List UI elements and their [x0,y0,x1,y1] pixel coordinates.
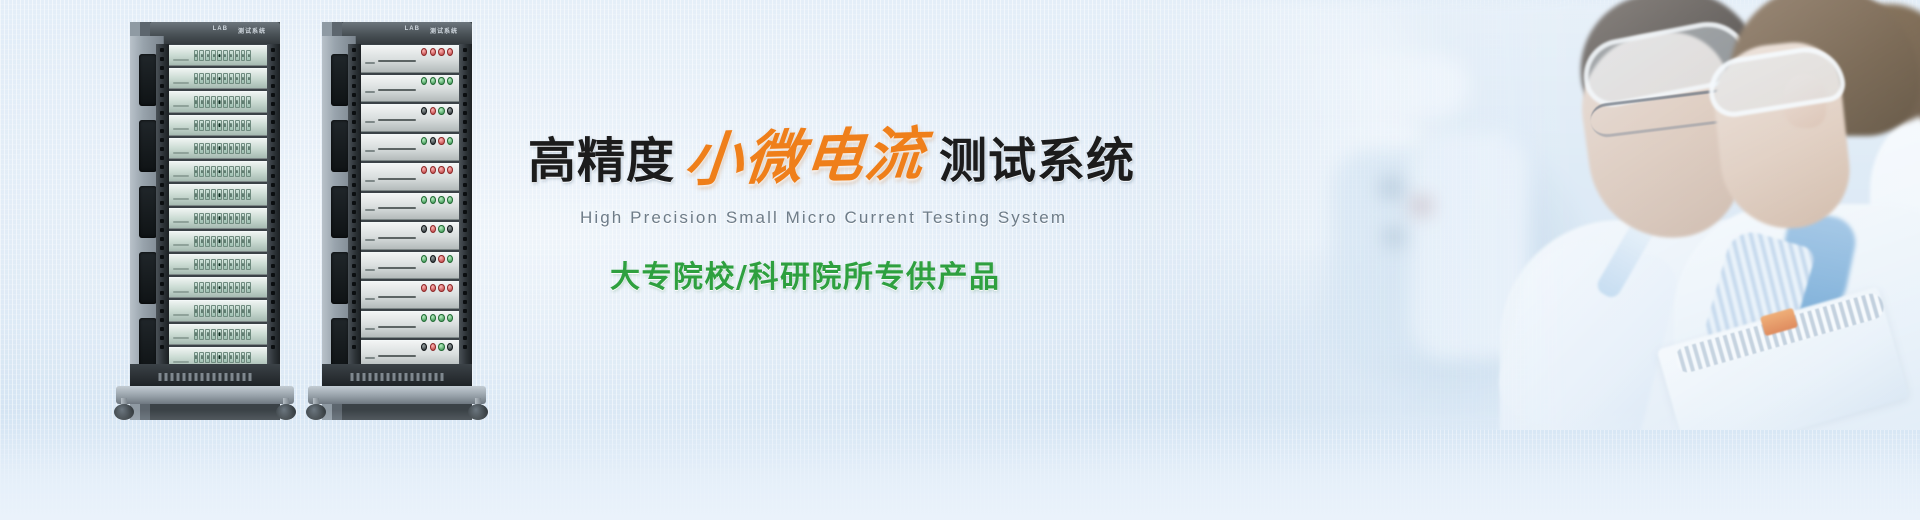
channel-port[interactable] [199,50,204,61]
rack-module[interactable] [169,115,267,136]
module-display [173,128,189,130]
rack-rail-hole [271,93,275,97]
channel-port[interactable] [235,73,240,84]
instrument-side-display [365,209,375,211]
rack-rail-left [156,44,169,368]
rack-rail-hole [352,219,356,223]
instrument-terminal[interactable] [447,255,453,263]
rack-rail-hole [160,228,164,232]
instrument-terminal[interactable] [447,284,453,292]
rack-rail-hole [352,156,356,160]
channel-port[interactable] [241,305,246,316]
channel-port[interactable] [205,189,210,200]
rack-rail-hole [160,237,164,241]
channel-port[interactable] [217,50,222,61]
module-display [173,291,189,293]
instrument-terminal[interactable] [421,225,427,233]
channel-port[interactable] [246,236,251,247]
rack-rail-hole [160,273,164,277]
rack-rail-hole [352,210,356,214]
channel-port[interactable] [223,96,228,107]
instrument-terminal[interactable] [430,255,436,263]
rack-module[interactable] [169,324,267,345]
channel-port[interactable] [223,236,228,247]
rack-rail-hole [271,228,275,232]
channel-port[interactable] [229,213,234,224]
channel-port[interactable] [217,352,222,363]
channel-port[interactable] [246,329,251,340]
channel-port[interactable] [223,50,228,61]
channel-port[interactable] [223,329,228,340]
instrument-terminal[interactable] [430,225,436,233]
rack-rail-hole [463,111,467,115]
headline: 高精度 小微电流 测试系统 [528,128,1128,186]
rack-post-slot [331,318,349,370]
channel-port[interactable] [246,143,251,154]
channel-port[interactable] [223,189,228,200]
channel-port[interactable] [199,143,204,154]
rack-module[interactable] [169,208,267,229]
channel-port[interactable] [211,96,216,107]
rack-module[interactable] [169,91,267,112]
rack-rail-hole [271,336,275,340]
channel-port[interactable] [241,329,246,340]
instrument-terminal[interactable] [421,255,427,263]
instrument-side-display [365,357,375,359]
instrument-module[interactable] [361,104,459,132]
channel-port[interactable] [217,305,222,316]
channel-port[interactable] [194,189,199,200]
channel-port[interactable] [211,189,216,200]
channel-port[interactable] [246,305,251,316]
rack-rail-hole [463,84,467,88]
channel-port[interactable] [217,236,222,247]
channel-port[interactable] [246,120,251,131]
instrument-main-display [378,326,417,328]
instrument-module[interactable] [361,281,459,309]
rack-rail-hole [160,84,164,88]
channel-port[interactable] [235,329,240,340]
instrument-module[interactable] [361,163,459,191]
rack-rail-hole [271,75,275,79]
instrument-main-display [378,119,417,121]
channel-port[interactable] [229,305,234,316]
channel-port[interactable] [194,213,199,224]
channel-port[interactable] [217,73,222,84]
channel-port[interactable] [194,73,199,84]
instrument-terminal[interactable] [447,225,453,233]
rack-rail-hole [271,57,275,61]
channel-port[interactable] [194,120,199,131]
instrument-terminal[interactable] [447,196,453,204]
channel-port[interactable] [241,213,246,224]
instrument-terminal-row [419,282,459,308]
instrument-terminal[interactable] [447,77,453,85]
channel-port[interactable] [246,166,251,177]
channel-port[interactable] [229,259,234,270]
rack-rail-hole [352,66,356,70]
channel-port[interactable] [217,120,222,131]
rack-rail-hole [160,336,164,340]
instrument-terminal[interactable] [447,137,453,145]
rack-top-panel: LAB 测试系统 [150,22,280,44]
channel-port[interactable] [241,166,246,177]
channel-port[interactable] [229,329,234,340]
rack-rail-hole [271,192,275,196]
instrument-terminal[interactable] [430,107,436,115]
instrument-terminal[interactable] [430,166,436,174]
rack-rail-hole [271,48,275,52]
instrument-terminal[interactable] [421,166,427,174]
channel-port[interactable] [211,120,216,131]
rack-module[interactable] [169,300,267,321]
rack-top-panel: LAB 测试系统 [342,22,472,44]
channel-port[interactable] [199,189,204,200]
rack-module[interactable] [169,184,267,205]
instrument-terminal[interactable] [430,284,436,292]
channel-port[interactable] [246,73,251,84]
channel-port[interactable] [229,352,234,363]
channel-port[interactable] [217,143,222,154]
rack-rail-hole [352,255,356,259]
channel-port[interactable] [246,50,251,61]
channel-port[interactable] [205,329,210,340]
channel-port[interactable] [211,50,216,61]
channel-port[interactable] [194,329,199,340]
channel-port[interactable] [229,236,234,247]
channel-port[interactable] [241,282,246,293]
channel-port[interactable] [199,329,204,340]
channel-port[interactable] [223,352,228,363]
rack-rail-hole [160,300,164,304]
rack-cart-platform [308,386,486,404]
channel-port[interactable] [194,236,199,247]
instrument-module[interactable] [361,193,459,221]
channel-port[interactable] [211,305,216,316]
channel-port[interactable] [235,96,240,107]
channel-port[interactable] [211,236,216,247]
instrument-terminal[interactable] [430,343,436,351]
rack-rail-right [459,44,472,368]
channel-port[interactable] [223,259,228,270]
channel-port[interactable] [246,189,251,200]
rack-module[interactable] [169,68,267,89]
hero-banner: LAB 测试系统 LAB 测试系统 [0,0,1920,520]
instrument-terminal[interactable] [438,196,444,204]
channel-port[interactable] [241,236,246,247]
channel-port[interactable] [235,305,240,316]
channel-port[interactable] [223,166,228,177]
instrument-module[interactable] [361,252,459,280]
instrument-module[interactable] [361,222,459,250]
channel-port[interactable] [246,259,251,270]
instrument-terminal[interactable] [438,284,444,292]
rack-module[interactable] [169,161,267,182]
channel-port[interactable] [199,96,204,107]
channel-port[interactable] [241,50,246,61]
instrument-terminal[interactable] [438,314,444,322]
caster-tire [468,404,488,420]
channel-port[interactable] [217,329,222,340]
channel-port[interactable] [241,143,246,154]
channel-port[interactable] [241,259,246,270]
channel-port[interactable] [194,282,199,293]
channel-port[interactable] [223,120,228,131]
channel-port[interactable] [229,282,234,293]
channel-port[interactable] [199,73,204,84]
channel-port[interactable] [223,73,228,84]
instrument-module[interactable] [361,311,459,339]
instrument-terminal[interactable] [421,284,427,292]
instrument-terminal[interactable] [430,77,436,85]
rack-rail-hole [463,66,467,70]
channel-port[interactable] [235,166,240,177]
channel-port[interactable] [194,143,199,154]
rack-base-label [351,373,444,381]
instrument-terminal[interactable] [438,343,444,351]
rack-module[interactable] [169,277,267,298]
rack-rail-hole [271,345,275,349]
channel-port[interactable] [229,50,234,61]
channel-port[interactable] [229,96,234,107]
rack-rail-hole [160,174,164,178]
channel-port[interactable] [235,236,240,247]
channel-port[interactable] [246,282,251,293]
rack-cart-platform [116,386,294,404]
instrument-terminal[interactable] [421,48,427,56]
rack-module[interactable] [169,45,267,66]
channel-port[interactable] [229,166,234,177]
channel-port[interactable] [205,213,210,224]
module-display [173,221,189,223]
channel-port[interactable] [229,143,234,154]
channel-port[interactable] [205,352,210,363]
rack-rail-hole [271,66,275,70]
rack-rail-hole [352,48,356,52]
channel-port[interactable] [235,352,240,363]
rack-rail-hole [463,57,467,61]
rack-module[interactable] [169,138,267,159]
rack-brand-label: LAB 测试系统 [213,26,266,35]
channel-port[interactable] [217,166,222,177]
rack-rail-hole [352,165,356,169]
channel-port[interactable] [199,120,204,131]
rack-rail-hole [463,255,467,259]
rack-rail-hole [271,246,275,250]
channel-port[interactable] [223,143,228,154]
instrument-terminal[interactable] [438,48,444,56]
rack-rail-hole [463,165,467,169]
channel-port[interactable] [194,352,199,363]
instrument-terminal-row [419,46,459,72]
instrument-side-display [365,150,375,152]
module-channel-row [191,46,255,65]
channel-port[interactable] [229,120,234,131]
rack-module[interactable] [169,231,267,252]
channel-port[interactable] [199,259,204,270]
channel-port[interactable] [205,96,210,107]
channel-port[interactable] [194,305,199,316]
channel-port[interactable] [235,259,240,270]
channel-port[interactable] [229,189,234,200]
instrument-terminal[interactable] [421,137,427,145]
rack-rail-hole [352,273,356,277]
instrument-terminal[interactable] [438,255,444,263]
channel-port[interactable] [211,73,216,84]
channel-port[interactable] [205,305,210,316]
channel-port[interactable] [199,282,204,293]
instrument-terminal-row [419,135,459,161]
rack-rail-hole [463,345,467,349]
rack-rail-hole [352,318,356,322]
channel-port[interactable] [205,259,210,270]
lab-scientists-photo [1110,0,1920,430]
instrument-terminal[interactable] [447,314,453,322]
rack-rail-hole [271,84,275,88]
channel-port[interactable] [205,73,210,84]
rack-rail-hole [160,192,164,196]
channel-port[interactable] [194,166,199,177]
rack-rail-hole [352,102,356,106]
instrument-terminal[interactable] [430,196,436,204]
channel-port[interactable] [246,352,251,363]
instrument-terminal[interactable] [421,343,427,351]
rack-rail-hole [352,264,356,268]
channel-port[interactable] [235,213,240,224]
channel-port[interactable] [211,329,216,340]
channel-port[interactable] [241,352,246,363]
instrument-terminal[interactable] [438,107,444,115]
caster-wheel [114,398,134,420]
channel-port[interactable] [217,96,222,107]
instrument-terminal[interactable] [421,107,427,115]
channel-port[interactable] [211,143,216,154]
rack-rail-hole [160,264,164,268]
instrument-terminal[interactable] [447,48,453,56]
instrument-module[interactable] [361,134,459,162]
channel-port[interactable] [205,143,210,154]
instrument-terminal-row [419,194,459,220]
channel-port[interactable] [211,213,216,224]
channel-port[interactable] [223,305,228,316]
channel-port[interactable] [217,259,222,270]
rack-rail-hole [160,75,164,79]
rack-brand-right: 测试系统 [238,26,266,35]
rack-rail-hole [271,318,275,322]
channel-port[interactable] [211,282,216,293]
module-display [173,59,189,61]
rack-rail-hole [463,309,467,313]
instrument-terminal[interactable] [447,166,453,174]
rack-rail-hole [160,93,164,97]
instrument-terminal[interactable] [430,314,436,322]
channel-port[interactable] [205,50,210,61]
channel-port[interactable] [217,213,222,224]
channel-port[interactable] [235,282,240,293]
channel-rack: LAB 测试系统 [130,22,280,420]
instrument-module[interactable] [361,45,459,73]
instrument-terminal[interactable] [421,196,427,204]
instrument-terminal[interactable] [430,137,436,145]
rack-post-slot [139,318,157,370]
rack-rail-hole [352,129,356,133]
instrument-terminal[interactable] [438,166,444,174]
rack-module[interactable] [169,254,267,275]
channel-port[interactable] [194,96,199,107]
module-display [173,361,189,363]
channel-port[interactable] [211,166,216,177]
module-channel-row [191,116,255,135]
channel-port[interactable] [241,120,246,131]
channel-port[interactable] [246,213,251,224]
channel-port[interactable] [194,259,199,270]
instrument-terminal[interactable] [447,107,453,115]
channel-port[interactable] [235,189,240,200]
rack-post-slot [331,54,349,106]
instrument-terminal[interactable] [438,225,444,233]
instrument-module[interactable] [361,75,459,103]
channel-port[interactable] [211,352,216,363]
rack-rail-hole [352,57,356,61]
rack-rail-hole [463,129,467,133]
channel-port[interactable] [217,282,222,293]
rack-rail-hole [463,48,467,52]
channel-port[interactable] [246,96,251,107]
rack-rail-hole [463,210,467,214]
module-display [173,105,189,107]
instrument-terminal[interactable] [438,137,444,145]
channel-port[interactable] [223,213,228,224]
rack-rail-hole [160,57,164,61]
rack-rail-hole [160,318,164,322]
instrument-side-display [365,328,375,330]
channel-port[interactable] [199,352,204,363]
channel-port[interactable] [199,213,204,224]
channel-port[interactable] [205,166,210,177]
rack-rail-hole [160,291,164,295]
rack-rail-hole [352,75,356,79]
channel-port[interactable] [235,50,240,61]
module-channel-row [191,325,255,344]
channel-port[interactable] [205,282,210,293]
channel-port[interactable] [199,305,204,316]
channel-port[interactable] [235,143,240,154]
instrument-main-display [378,355,417,357]
channel-port[interactable] [241,96,246,107]
channel-port[interactable] [211,259,216,270]
channel-port[interactable] [199,236,204,247]
channel-port[interactable] [194,50,199,61]
channel-port[interactable] [241,189,246,200]
channel-port[interactable] [217,189,222,200]
instrument-terminal[interactable] [421,77,427,85]
instrument-terminal[interactable] [438,77,444,85]
instrument-terminal[interactable] [447,343,453,351]
channel-port[interactable] [199,166,204,177]
channel-port[interactable] [205,120,210,131]
photo-blue-tint [1110,0,1920,430]
channel-port[interactable] [205,236,210,247]
channel-port[interactable] [223,282,228,293]
channel-port[interactable] [235,120,240,131]
rack-rail-hole [352,336,356,340]
channel-port[interactable] [229,73,234,84]
instrument-terminal[interactable] [430,48,436,56]
instrument-terminal[interactable] [421,314,427,322]
module-channel-row [191,139,255,158]
rack-rail-hole [352,300,356,304]
channel-port[interactable] [241,73,246,84]
